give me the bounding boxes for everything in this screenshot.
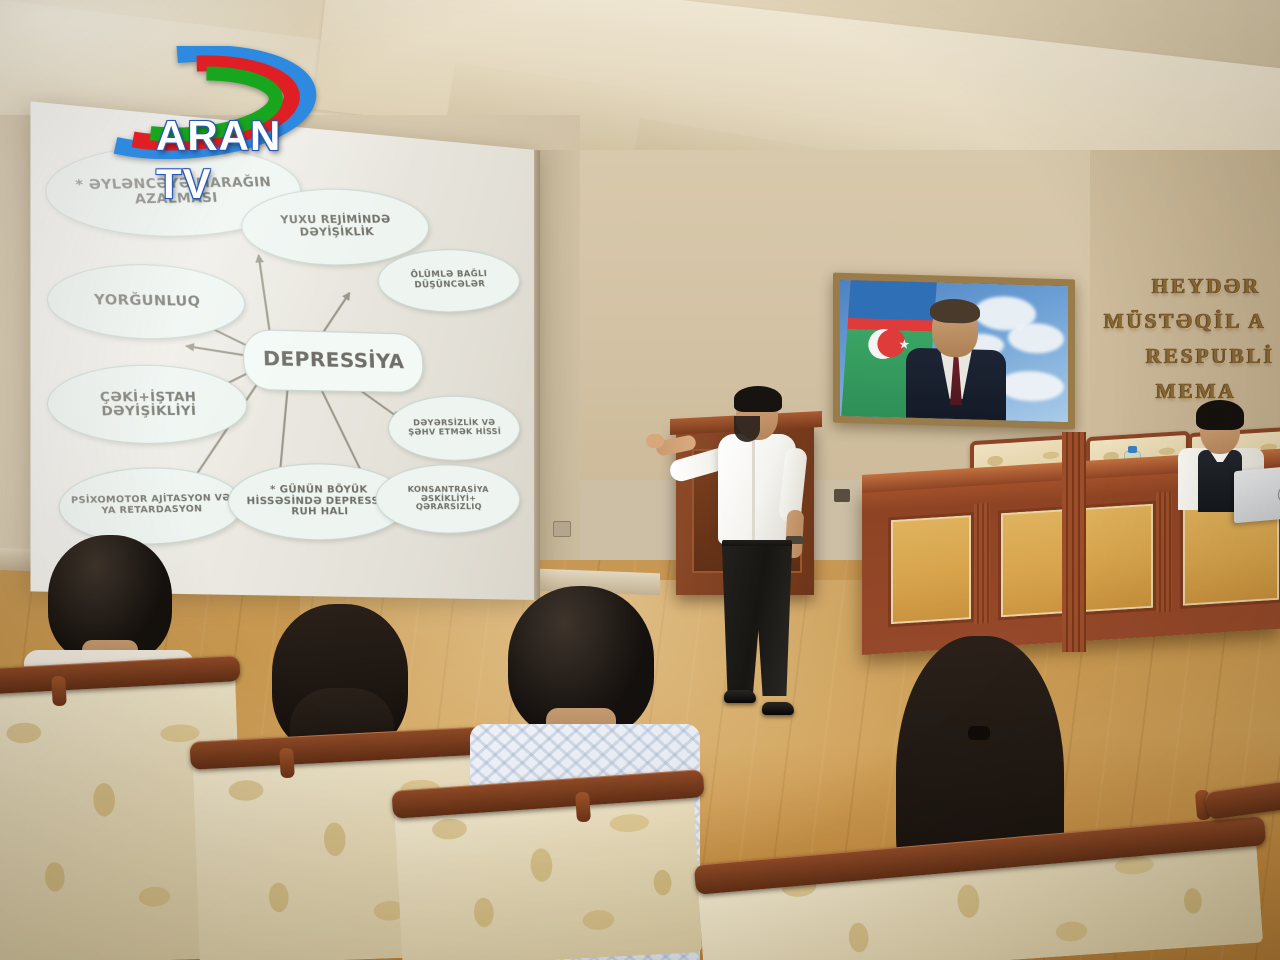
presenter-shoe-right (762, 702, 794, 715)
presenter-pointing-hand (646, 434, 664, 448)
flag-star-icon: ★ (898, 337, 911, 350)
presenter (690, 390, 820, 735)
aran-tv-logo-text: ARAN TV (156, 112, 324, 208)
audience-hair-4-tie (968, 726, 990, 740)
aran-tv-logo: ARAN TV (52, 46, 324, 166)
desk-pilaster-2 (1156, 491, 1172, 612)
wall-pillar-right (1062, 432, 1086, 652)
bottle-cap (1128, 446, 1137, 453)
screen-right-edge (534, 150, 540, 600)
hp-laptop: hp (1234, 465, 1280, 523)
presenter-beard (734, 416, 760, 442)
wall-gold-line-1: HEYDƏR (1152, 274, 1261, 299)
wall-gold-line-3: RESPUBLİ (1146, 344, 1275, 369)
laptop-user-hair (1196, 400, 1244, 430)
portrait-hair (930, 298, 980, 323)
presenter-shoe-left (724, 690, 756, 703)
desk-pilaster-1 (974, 503, 990, 624)
chair-3-finial (575, 792, 591, 823)
chair-2-finial (279, 748, 295, 779)
wall-socket-right (834, 489, 850, 502)
presenter-shirt-placket (752, 440, 755, 540)
photo-scene: * ƏYLƏNCƏYƏ MARAĞIN AZALMASI YUXU REJİMİ… (0, 0, 1280, 960)
presenter-trousers (722, 546, 792, 696)
heydar-aliyev-portrait: ★ (833, 273, 1075, 430)
desk-panel-1 (888, 512, 974, 627)
wall-socket-left (553, 521, 571, 537)
laptop-user: hp (1182, 406, 1280, 526)
presenter-hair (734, 386, 782, 412)
wall-gold-line-2: MÜSTƏQİL A (1104, 309, 1267, 334)
flag-blue-band (848, 280, 937, 320)
wall-corner-shadow (540, 150, 580, 620)
chair-1-finial (51, 676, 67, 707)
